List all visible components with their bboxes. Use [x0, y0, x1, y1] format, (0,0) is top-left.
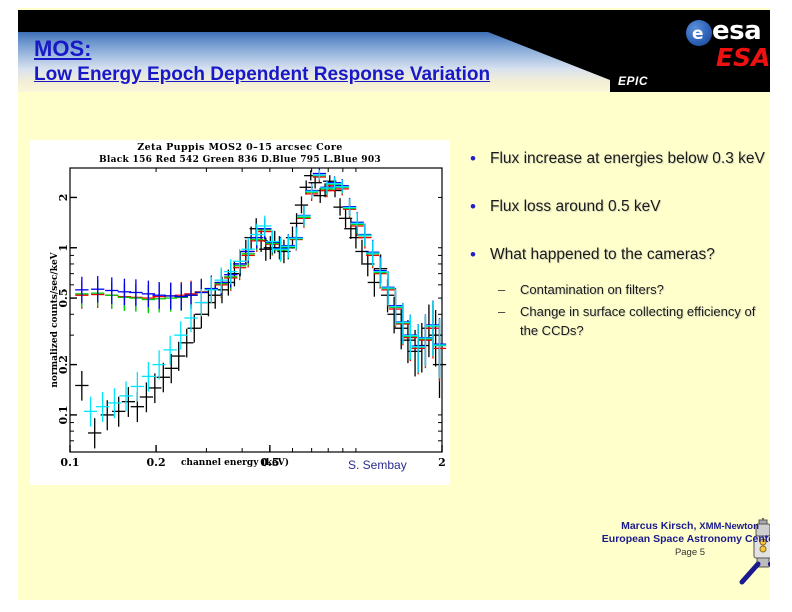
globe-icon: e [686, 20, 712, 46]
bullet-label: What happened to the cameras? [490, 244, 715, 266]
margin-top [0, 0, 792, 8]
footer-author-line: Marcus Kirsch, XMM-Newton [600, 520, 780, 533]
footer-author: Marcus Kirsch, [621, 520, 696, 532]
svg-text:2: 2 [57, 194, 70, 202]
page-number: Page 5 [600, 546, 780, 559]
chart-panel: Zeta Puppis MOS2 0–15 arcsec Core Black … [30, 140, 450, 485]
svg-text:2: 2 [438, 456, 446, 469]
esa-globe-letter: e [692, 26, 710, 44]
footer-organisation: European Space Astronomy Center [600, 533, 780, 546]
slide-canvas: MOS: Low Energy Epoch Dependent Response… [0, 0, 792, 612]
bullet-label: Flux loss around 0.5 keV [490, 196, 661, 218]
slide-header: MOS: Low Energy Epoch Dependent Response… [18, 10, 770, 92]
bullet-marker-icon: • [470, 148, 490, 170]
sub-bullet-item: – Change in surface collecting efficienc… [498, 302, 770, 340]
page-subtitle: Low Energy Epoch Dependent Response Vari… [34, 63, 594, 87]
bullet-label: Flux increase at energies below 0.3 keV [490, 148, 765, 170]
bullet-list: • Flux increase at energies below 0.3 ke… [470, 148, 770, 343]
bullet-marker-icon: • [470, 244, 490, 266]
chart-svg: 0.10.20.520.10.20.512 [30, 140, 450, 485]
sub-bullet-label: Contamination on filters? [520, 280, 664, 299]
page-title: MOS: [34, 36, 594, 62]
svg-text:0.1: 0.1 [57, 405, 70, 424]
header-title-block: MOS: Low Energy Epoch Dependent Response… [34, 36, 594, 87]
esac-wordmark: ESAC [716, 44, 770, 71]
esa-wordmark: esa [712, 17, 761, 45]
margin-right [770, 0, 792, 612]
esa-logo: e esa ESAC [682, 16, 770, 78]
bullet-item: • Flux loss around 0.5 keV [470, 196, 770, 218]
chart-credit: S. Sembay [348, 458, 407, 472]
footer-mission: XMM-Newton [699, 521, 759, 532]
instrument-label: EPIC [618, 74, 648, 88]
margin-bottom [0, 600, 792, 612]
sub-bullet-item: – Contamination on filters? [498, 280, 770, 299]
dash-marker-icon: – [498, 280, 520, 299]
sub-bullet-label: Change in surface collecting efficiency … [520, 302, 770, 340]
bullet-item: • What happened to the cameras? [470, 244, 770, 266]
margin-left [0, 0, 18, 612]
slide-footer: Marcus Kirsch, XMM-Newton European Space… [600, 520, 780, 559]
dash-marker-icon: – [498, 302, 520, 340]
bullet-item: • Flux increase at energies below 0.3 ke… [470, 148, 770, 170]
chart-y-axis-label: normalized counts/sec/keV [50, 235, 60, 405]
bullet-marker-icon: • [470, 196, 490, 218]
